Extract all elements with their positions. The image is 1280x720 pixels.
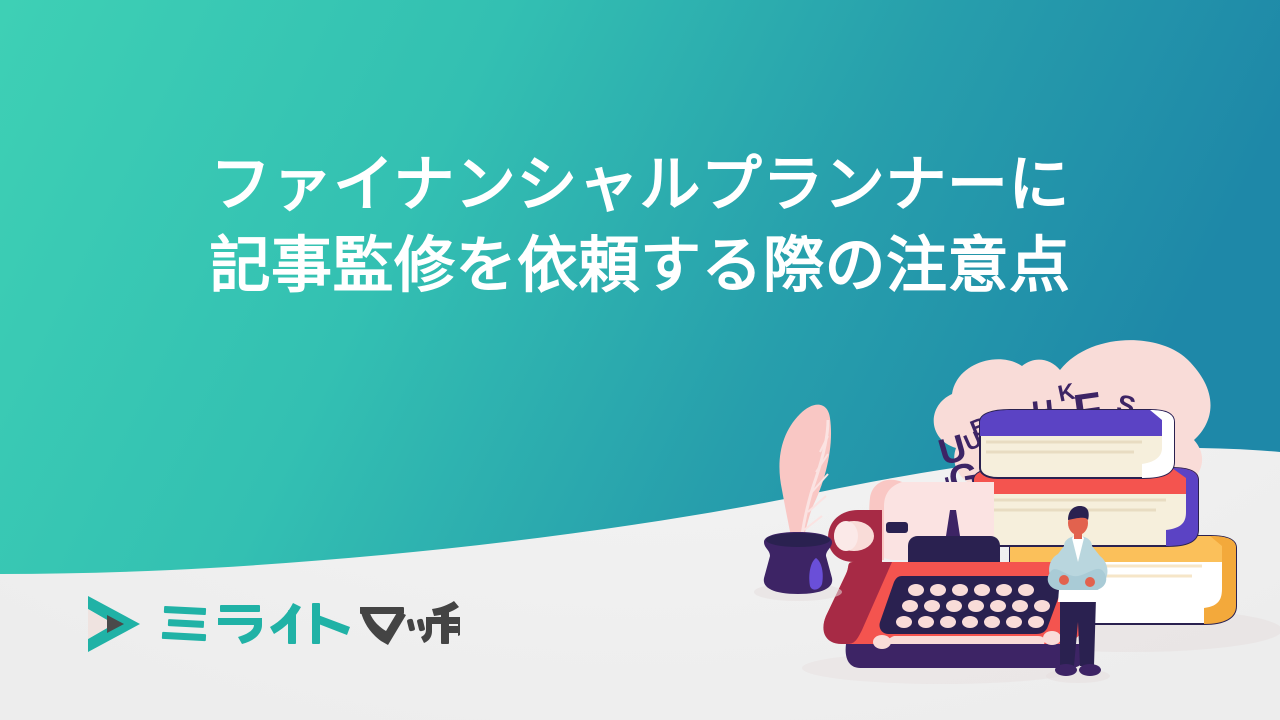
site-logo[interactable] xyxy=(84,593,460,655)
page-title-line-2: 記事監修を依頼する際の注意点 xyxy=(0,225,1280,306)
logo-char-mi xyxy=(162,606,206,641)
typewriter-space-bar xyxy=(888,636,1045,644)
page-title-line-1: ファイナンシャルプランナーに xyxy=(0,144,1280,225)
book-purple xyxy=(980,410,1174,478)
typewriter-books-letters-illustration: KFSHCBUAOZYUEDRWVXIGQMPJNTL xyxy=(742,330,1280,720)
banner-canvas: ファイナンシャルプランナーに 記事監修を依頼する際の注意点 KFSHCBUAOZ… xyxy=(0,0,1280,720)
book-red xyxy=(974,468,1198,546)
logo-char-ma xyxy=(360,607,406,645)
logo-char-to xyxy=(312,603,350,644)
site-logo-wordmark xyxy=(160,601,460,647)
logo-char-chi xyxy=(428,601,460,644)
inkwell-with-quill xyxy=(754,405,842,601)
mirai-match-arrow-mark xyxy=(84,593,148,655)
logo-char-i xyxy=(270,603,301,644)
page-title: ファイナンシャルプランナーに 記事監修を依頼する際の注意点 xyxy=(0,144,1280,305)
logo-char-ra xyxy=(218,605,262,644)
typewriter-head xyxy=(908,536,1000,562)
